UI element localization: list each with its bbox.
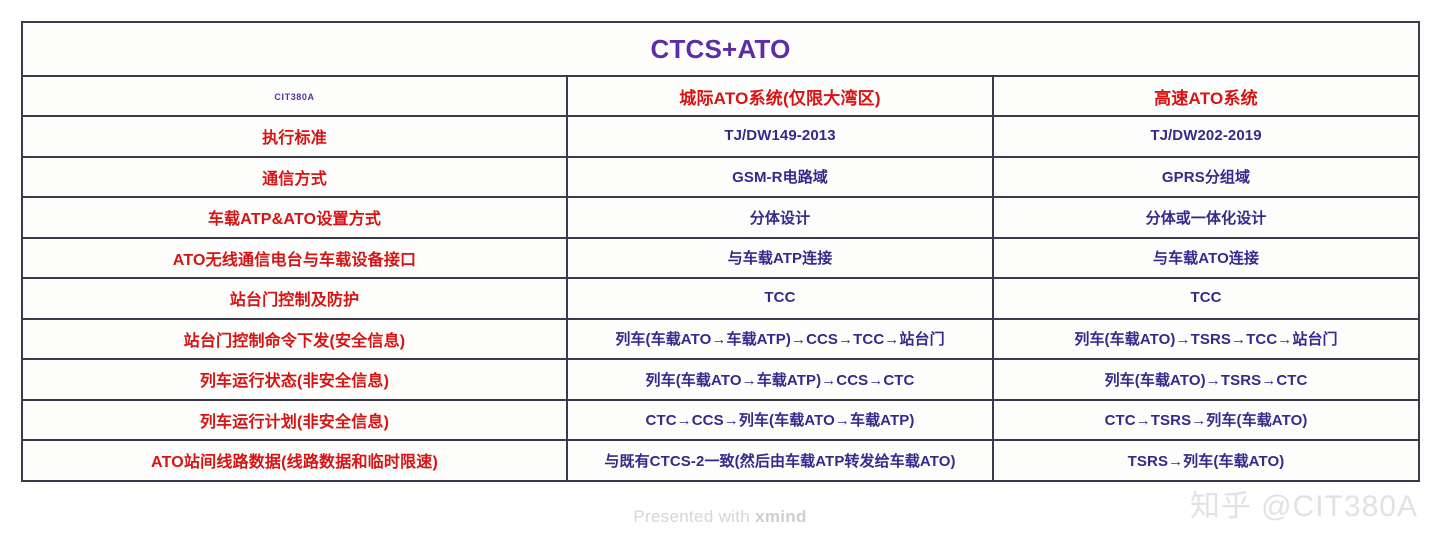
table-row: 列车运行状态(非安全信息) 列车(车载ATO→车载ATP)→CCS→CTC 列车… <box>22 359 1419 400</box>
cell-highspeed: 与车载ATO连接 <box>993 238 1419 279</box>
table-row: 执行标准 TJ/DW149-2013 TJ/DW202-2019 <box>22 116 1419 157</box>
row-label-cell: 车载ATP&ATO设置方式 <box>22 197 567 238</box>
table-row: ATO站间线路数据(线路数据和临时限速) 与既有CTCS-2一致(然后由车载AT… <box>22 440 1419 481</box>
cell-highspeed: 列车(车载ATO)→TSRS→TCC→站台门 <box>993 319 1419 360</box>
table-row: 车载ATP&ATO设置方式 分体设计 分体或一体化设计 <box>22 197 1419 238</box>
cell-intercity: TCC <box>567 278 993 319</box>
row-label-cell: 通信方式 <box>22 157 567 198</box>
xmind-watermark-prefix: Presented with <box>633 507 755 526</box>
table-header-row: CIT380A 城际ATO系统(仅限大湾区) 高速ATO系统 <box>22 76 1419 116</box>
cell-value: 与既有CTCS-2一致(然后由车载ATP转发给车载ATO) <box>604 453 955 470</box>
table-row: 列车运行计划(非安全信息) CTC→CCS→列车(车载ATO→车载ATP) CT… <box>22 400 1419 441</box>
xmind-watermark: Presented with xmind <box>0 508 1440 525</box>
cell-intercity: 列车(车载ATO→车载ATP)→CCS→TCC→站台门 <box>567 319 993 360</box>
row-label-cell: 站台门控制及防护 <box>22 278 567 319</box>
cell-value: 列车(车载ATO→车载ATP)→CCS→CTC <box>646 372 915 389</box>
header-cell-highspeed: 高速ATO系统 <box>993 76 1419 116</box>
brand-tag-label: CIT380A <box>274 92 314 102</box>
cell-value: 与车载ATP连接 <box>728 250 833 267</box>
row-label: ATO无线通信电台与车载设备接口 <box>173 252 417 269</box>
zhihu-watermark: 知乎 @CIT380A <box>1190 492 1418 522</box>
table-row: ATO无线通信电台与车载设备接口 与车载ATP连接 与车载ATO连接 <box>22 238 1419 279</box>
row-label-cell: 执行标准 <box>22 116 567 157</box>
cell-value: TJ/DW202-2019 <box>1150 127 1261 144</box>
cell-value: TJ/DW149-2013 <box>724 127 835 144</box>
page-title: CTCS+ATO <box>31 36 1410 62</box>
table-body: CTCS+ATO CIT380A 城际ATO系统(仅限大湾区) 高速ATO系统 … <box>22 22 1419 481</box>
comparison-table: CTCS+ATO CIT380A 城际ATO系统(仅限大湾区) 高速ATO系统 … <box>21 21 1420 482</box>
cell-value: GSM-R电路域 <box>732 169 828 186</box>
table-title-row: CTCS+ATO <box>22 22 1419 76</box>
cell-highspeed: TJ/DW202-2019 <box>993 116 1419 157</box>
cell-intercity: 与车载ATP连接 <box>567 238 993 279</box>
cell-highspeed: TCC <box>993 278 1419 319</box>
cell-value: TSRS→列车(车载ATO) <box>1128 453 1285 470</box>
cell-value: CTC→CCS→列车(车载ATO→车载ATP) <box>646 412 915 429</box>
cell-highspeed: 分体或一体化设计 <box>993 197 1419 238</box>
cell-value: 列车(车载ATO→车载ATP)→CCS→TCC→站台门 <box>615 331 944 348</box>
row-label: ATO站间线路数据(线路数据和临时限速) <box>151 454 438 471</box>
row-label: 列车运行计划(非安全信息) <box>200 414 389 431</box>
column-header-highspeed: 高速ATO系统 <box>1154 89 1258 108</box>
cell-value: TCC <box>764 289 795 306</box>
table-title-cell: CTCS+ATO <box>22 22 1419 76</box>
header-cell-intercity: 城际ATO系统(仅限大湾区) <box>567 76 993 116</box>
cell-value: 与车载ATO连接 <box>1153 250 1259 267</box>
row-label: 通信方式 <box>262 171 327 188</box>
cell-highspeed: 列车(车载ATO)→TSRS→CTC <box>993 359 1419 400</box>
row-label-cell: 站台门控制命令下发(安全信息) <box>22 319 567 360</box>
cell-intercity: CTC→CCS→列车(车载ATO→车载ATP) <box>567 400 993 441</box>
row-label-cell: 列车运行计划(非安全信息) <box>22 400 567 441</box>
row-label-cell: 列车运行状态(非安全信息) <box>22 359 567 400</box>
row-label: 列车运行状态(非安全信息) <box>200 373 389 390</box>
cell-value: 列车(车载ATO)→TSRS→CTC <box>1105 372 1308 389</box>
cell-value: TCC <box>1190 289 1221 306</box>
cell-intercity: 分体设计 <box>567 197 993 238</box>
row-label: 站台门控制及防护 <box>230 292 360 309</box>
cell-value: GPRS分组域 <box>1162 169 1250 186</box>
column-header-intercity: 城际ATO系统(仅限大湾区) <box>679 89 880 108</box>
table-row: 站台门控制命令下发(安全信息) 列车(车载ATO→车载ATP)→CCS→TCC→… <box>22 319 1419 360</box>
cell-highspeed: CTC→TSRS→列车(车载ATO) <box>993 400 1419 441</box>
cell-intercity: GSM-R电路域 <box>567 157 993 198</box>
xmind-canvas: CTCS+ATO CIT380A 城际ATO系统(仅限大湾区) 高速ATO系统 … <box>0 0 1440 555</box>
row-label-cell: ATO站间线路数据(线路数据和临时限速) <box>22 440 567 481</box>
table-row: 站台门控制及防护 TCC TCC <box>22 278 1419 319</box>
header-cell-attribute: CIT380A <box>22 76 567 116</box>
table-row: 通信方式 GSM-R电路域 GPRS分组域 <box>22 157 1419 198</box>
cell-value: 分体或一体化设计 <box>1146 210 1267 227</box>
cell-intercity: TJ/DW149-2013 <box>567 116 993 157</box>
cell-value: 分体设计 <box>750 210 810 227</box>
row-label: 执行标准 <box>262 130 327 147</box>
row-label-cell: ATO无线通信电台与车载设备接口 <box>22 238 567 279</box>
cell-highspeed: TSRS→列车(车载ATO) <box>993 440 1419 481</box>
cell-value: 列车(车载ATO)→TSRS→TCC→站台门 <box>1074 331 1337 348</box>
cell-intercity: 列车(车载ATO→车载ATP)→CCS→CTC <box>567 359 993 400</box>
row-label: 站台门控制命令下发(安全信息) <box>184 333 406 350</box>
cell-value: CTC→TSRS→列车(车载ATO) <box>1105 412 1308 429</box>
cell-highspeed: GPRS分组域 <box>993 157 1419 198</box>
cell-intercity: 与既有CTCS-2一致(然后由车载ATP转发给车载ATO) <box>567 440 993 481</box>
xmind-watermark-brand: xmind <box>755 507 807 526</box>
row-label: 车载ATP&ATO设置方式 <box>208 211 381 228</box>
